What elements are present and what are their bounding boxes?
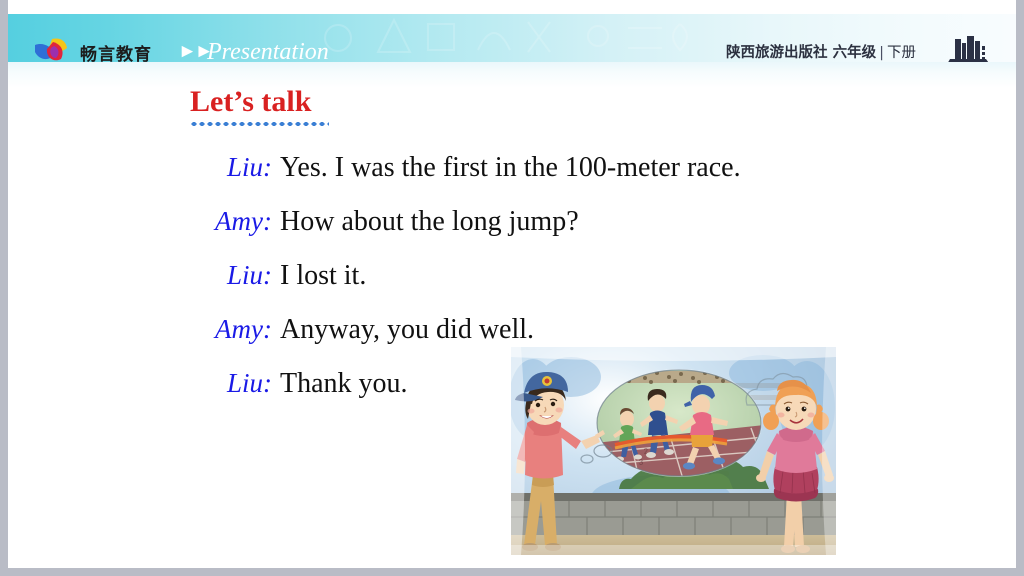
presentation-label: Presentation <box>207 39 329 62</box>
dialogue-speaker: Liu: <box>8 260 280 291</box>
dialogue-line: Liu: I lost it. <box>8 260 1016 306</box>
dialogue-speaker: Amy: <box>8 206 280 237</box>
slide-canvas: 畅言教育 ►► Presentation 陕西旅游出版社 六年级|下册 <box>8 0 1016 568</box>
dialogue-text: How about the long jump? <box>280 206 579 238</box>
slide-frame: 畅言教育 ►► Presentation 陕西旅游出版社 六年级|下册 <box>0 0 1024 576</box>
dialogue-text: Yes. I was the first in the 100-meter ra… <box>280 152 741 184</box>
dialogue-speaker: Amy: <box>8 314 280 345</box>
publisher-volume: 下册 <box>887 45 916 61</box>
dialogue-text: Thank you. <box>280 368 408 400</box>
publisher-name: 陕西旅游出版社 六年级 <box>726 45 876 61</box>
dialogue-text: I lost it. <box>280 260 366 292</box>
header-doodle-watermark <box>308 14 728 62</box>
section-title-block: Let’s talk <box>190 86 490 127</box>
title-underline <box>190 121 329 127</box>
dialogue-text: Anyway, you did well. <box>280 314 534 346</box>
header-bar: 畅言教育 ►► Presentation 陕西旅游出版社 六年级|下册 <box>8 14 1016 62</box>
dialogue-speaker: Liu: <box>8 152 280 183</box>
brand-name-cn: 畅言教育 <box>80 40 152 62</box>
page-title: Let’s talk <box>190 86 490 118</box>
lesson-illustration: 2 3 4 <box>511 347 836 555</box>
changyan-bird-logo <box>33 36 73 62</box>
dialogue-line: Liu: Yes. I was the first in the 100-met… <box>8 152 1016 198</box>
publisher-info: 陕西旅游出版社 六年级|下册 <box>726 41 916 62</box>
header-glow <box>8 62 1016 88</box>
publisher-separator: | <box>876 45 887 61</box>
dialogue-speaker: Liu: <box>8 368 280 399</box>
dialogue-line: Amy: How about the long jump? <box>8 206 1016 252</box>
books-stack-icon <box>946 33 994 62</box>
